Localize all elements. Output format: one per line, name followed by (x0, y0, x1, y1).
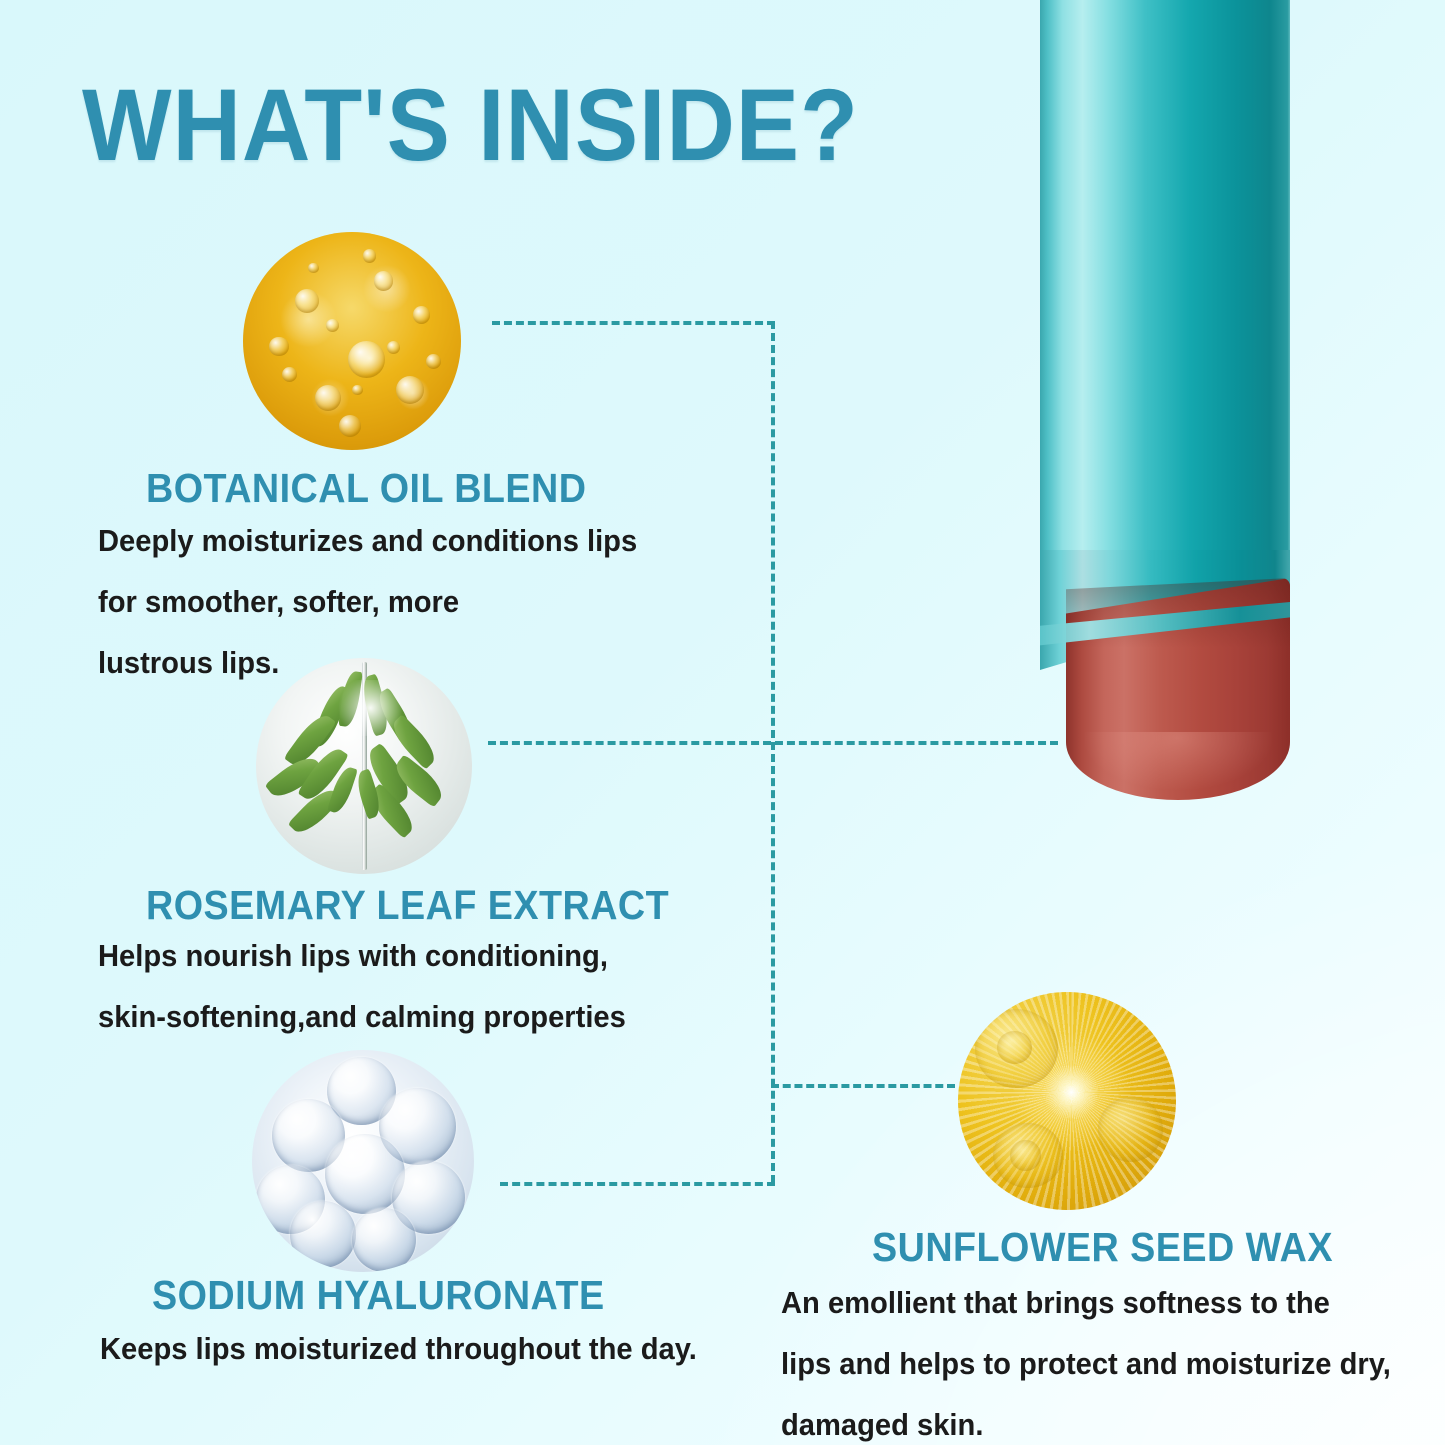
ingredient-image-botanical-oil-blend (243, 232, 461, 450)
ingredient-description-sunflower-seed-wax: An emollient that brings softness to the… (781, 1272, 1391, 1445)
description-line: Keeps lips moisturized throughout the da… (100, 1318, 697, 1379)
ingredient-image-sodium-hyaluronate (252, 1050, 474, 1272)
ingredient-description-sodium-hyaluronate: Keeps lips moisturized throughout the da… (100, 1318, 697, 1379)
lipstick-tube-body (1040, 0, 1290, 636)
connector-line-oil (492, 321, 775, 325)
ingredient-image-sunflower-seed-wax (958, 992, 1176, 1210)
description-line: Deeply moisturizes and conditions lips (98, 510, 637, 571)
connector-line-spine (771, 321, 775, 1183)
ingredient-description-rosemary-leaf-extract: Helps nourish lips with conditioning, sk… (98, 925, 626, 1047)
ingredient-heading-sunflower-seed-wax: SUNFLOWER SEED WAX (872, 1224, 1333, 1271)
description-line: skin-softening,and calming properties (98, 986, 626, 1047)
connector-line-sodium (500, 1182, 775, 1186)
description-line: lips and helps to protect and moisturize… (781, 1333, 1391, 1394)
ingredient-heading-sodium-hyaluronate: SODIUM HYALURONATE (152, 1272, 605, 1319)
infographic-canvas: WHAT'S INSIDE? BOTANICAL OIL BLEND Deepl… (0, 0, 1445, 1445)
lipstick-product-image (1036, 0, 1294, 820)
description-line: Helps nourish lips with conditioning, (98, 925, 626, 986)
connector-line-sunflower (771, 1084, 955, 1088)
ingredient-heading-botanical-oil-blend: BOTANICAL OIL BLEND (146, 465, 586, 512)
rosemary-light-glow (334, 680, 407, 736)
description-line: An emollient that brings softness to the (781, 1272, 1391, 1333)
connector-line-rosemary (488, 741, 1058, 745)
description-line: damaged skin. (781, 1394, 1391, 1445)
description-line: for smoother, softer, more (98, 571, 637, 632)
page-title: WHAT'S INSIDE? (82, 74, 859, 176)
ingredient-heading-rosemary-leaf-extract: ROSEMARY LEAF EXTRACT (146, 882, 669, 929)
ingredient-image-rosemary-leaf-extract (256, 658, 472, 874)
